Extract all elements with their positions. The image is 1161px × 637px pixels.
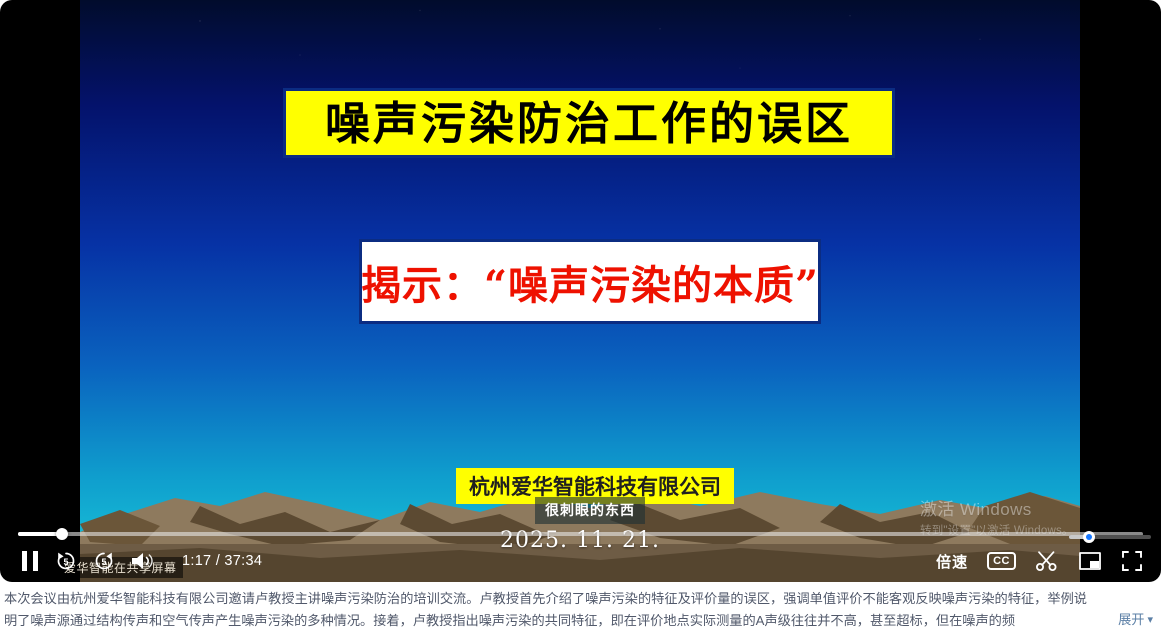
slide-subtitle: 揭示：“噪声污染的本质” (361, 253, 819, 311)
pause-icon (20, 550, 40, 572)
playback-speed-button[interactable]: 倍速 (936, 551, 968, 572)
expand-label: 展开 (1118, 609, 1144, 631)
rewind-5-button[interactable]: 5 (54, 549, 78, 573)
progress-handle[interactable] (56, 528, 68, 540)
cc-icon: CC (987, 552, 1016, 570)
svg-text:5: 5 (63, 557, 68, 567)
clip-button[interactable] (1035, 550, 1059, 572)
forward-5-icon: 5 (92, 549, 116, 573)
expand-description-link[interactable]: 展开 ▾ (1108, 609, 1153, 631)
progress-track[interactable] (18, 532, 1143, 536)
volume-handle[interactable] (1083, 531, 1095, 543)
chevron-down-icon: ▾ (1147, 609, 1153, 631)
progress-bar[interactable] (0, 530, 1161, 538)
caption-chip: 很刺眼的东西 (535, 497, 645, 524)
video-description: 本次会议由杭州爱华智能科技有限公司邀请卢教授主讲噪声污染防治的培训交流。卢教授首… (0, 582, 1161, 637)
slide-subtitle-box: 揭示：“噪声污染的本质” (359, 239, 821, 324)
picture-in-picture-icon (1078, 551, 1102, 571)
rewind-5-icon: 5 (54, 549, 78, 573)
picture-in-picture-button[interactable] (1078, 551, 1102, 571)
volume-slider[interactable] (1069, 531, 1151, 543)
description-text: 本次会议由杭州爱华智能科技有限公司邀请卢教授主讲噪声污染防治的培训交流。卢教授首… (4, 588, 1153, 632)
volume-button[interactable] (130, 550, 154, 572)
forward-5-button[interactable]: 5 (92, 549, 116, 573)
page-title: 噪声污染防治工作的误区 (325, 101, 853, 146)
player-controls: 5 5 1:17 / 37:34 (0, 540, 1161, 582)
scissors-icon (1035, 550, 1059, 572)
slide-canvas: 噪声污染防治工作的误区 揭示：“噪声污染的本质” 杭州爱华智能科技有限公司 很刺… (80, 0, 1080, 582)
fullscreen-icon (1121, 550, 1143, 572)
player-controls-right: 倍速 CC (936, 550, 1161, 572)
player-controls-left: 5 5 1:17 / 37:34 (0, 549, 262, 573)
svg-text:5: 5 (101, 557, 106, 567)
volume-on-icon (130, 550, 154, 572)
time-display: 1:17 / 37:34 (182, 553, 262, 569)
play-pause-button[interactable] (20, 550, 40, 572)
video-player[interactable]: 噪声污染防治工作的误区 揭示：“噪声污染的本质” 杭州爱华智能科技有限公司 很刺… (0, 0, 1161, 582)
captions-button[interactable]: CC (987, 552, 1016, 570)
fullscreen-button[interactable] (1121, 550, 1143, 572)
slide-title-box: 噪声污染防治工作的误区 (283, 88, 895, 158)
